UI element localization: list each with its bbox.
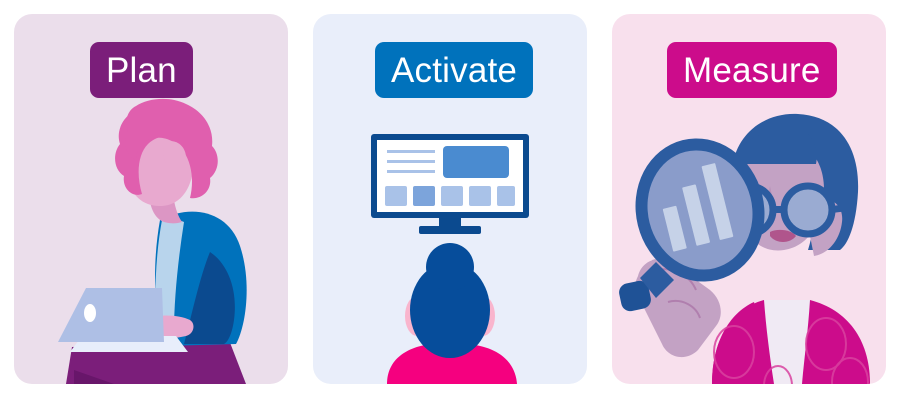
panel-plan[interactable]: Plan	[14, 14, 288, 384]
illustration-board: Plan	[0, 0, 900, 400]
monitor-icon	[371, 134, 529, 234]
badge-plan[interactable]: Plan	[90, 42, 193, 98]
panel-activate[interactable]: Activate	[313, 14, 587, 384]
badge-activate[interactable]: Activate	[375, 42, 533, 98]
person-back-view-icon	[387, 243, 517, 384]
panel-measure[interactable]: Measure	[612, 14, 886, 384]
person-working-on-laptop-icon	[58, 99, 247, 384]
woman-with-magnifying-glass-icon	[617, 114, 870, 384]
badge-measure[interactable]: Measure	[667, 42, 837, 98]
